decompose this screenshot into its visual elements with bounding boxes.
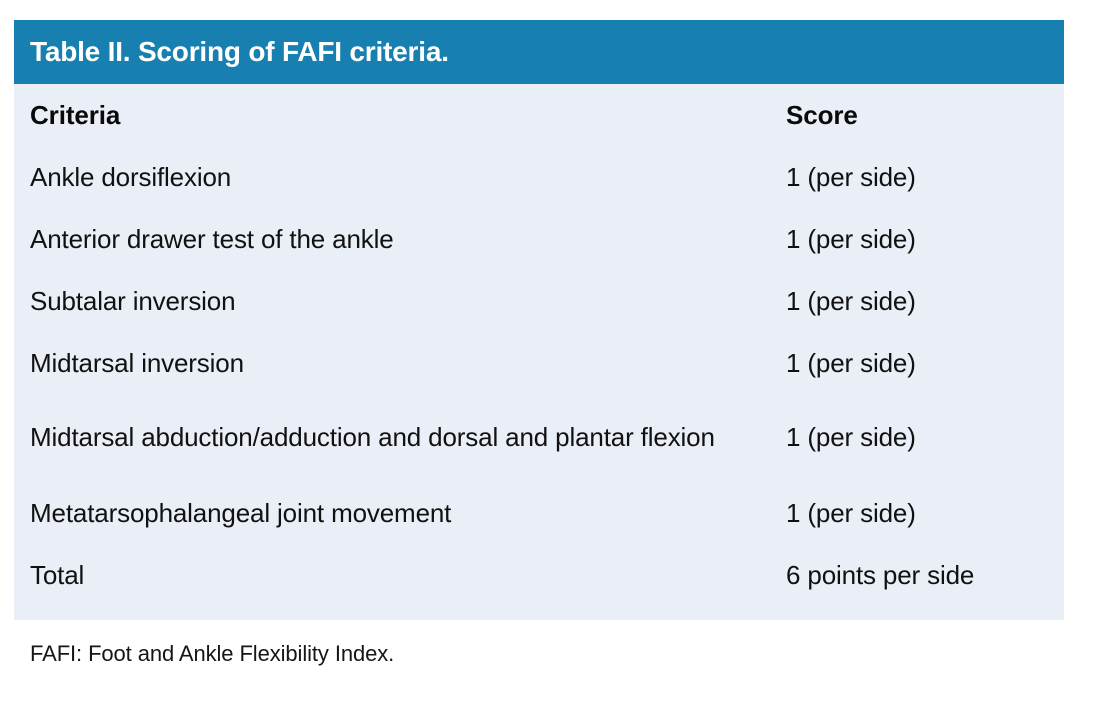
cell-score: 1 (per side) [786,146,1048,208]
column-header-score: Score [786,84,1048,146]
table-row: Ankle dorsiflexion1 (per side) [30,146,1048,208]
cell-criteria: Total [30,544,786,606]
table-row: Midtarsal inversion1 (per side) [30,332,1048,394]
table-caption-text: Table II. Scoring of FAFI criteria. [30,38,449,66]
cell-criteria: Ankle dorsiflexion [30,146,786,208]
table-footnote: FAFI: Foot and Ankle Flexibility Index. [30,641,394,667]
table-row: Anterior drawer test of the ankle1 (per … [30,208,1048,270]
cell-score: 6 points per side [786,544,1048,606]
cell-score: 1 (per side) [786,208,1048,270]
cell-score: 1 (per side) [786,394,1048,482]
cell-criteria: Metatarsophalangeal joint movement [30,482,786,544]
cell-criteria: Midtarsal abduction/adduction and dorsal… [30,394,786,482]
table-body: Criteria Score Ankle dorsiflexion1 (per … [14,84,1064,620]
table-caption-bar: Table II. Scoring of FAFI criteria. [14,20,1064,84]
cell-criteria: Anterior drawer test of the ankle [30,208,786,270]
table-row: Subtalar inversion1 (per side) [30,270,1048,332]
column-header-criteria: Criteria [30,84,786,146]
cell-criteria: Midtarsal inversion [30,332,786,394]
table-row: Total6 points per side [30,544,1048,606]
table-row: Midtarsal abduction/adduction and dorsal… [30,394,1048,482]
cell-criteria: Subtalar inversion [30,270,786,332]
cell-score: 1 (per side) [786,332,1048,394]
table-figure: Table II. Scoring of FAFI criteria. Crit… [14,20,1064,620]
scoring-table: Criteria Score Ankle dorsiflexion1 (per … [30,84,1048,606]
table-header-row: Criteria Score [30,84,1048,146]
table-body-row-group: Ankle dorsiflexion1 (per side)Anterior d… [30,146,1048,606]
table-header-row-group: Criteria Score [30,84,1048,146]
cell-score: 1 (per side) [786,270,1048,332]
table-row: Metatarsophalangeal joint movement1 (per… [30,482,1048,544]
cell-score: 1 (per side) [786,482,1048,544]
